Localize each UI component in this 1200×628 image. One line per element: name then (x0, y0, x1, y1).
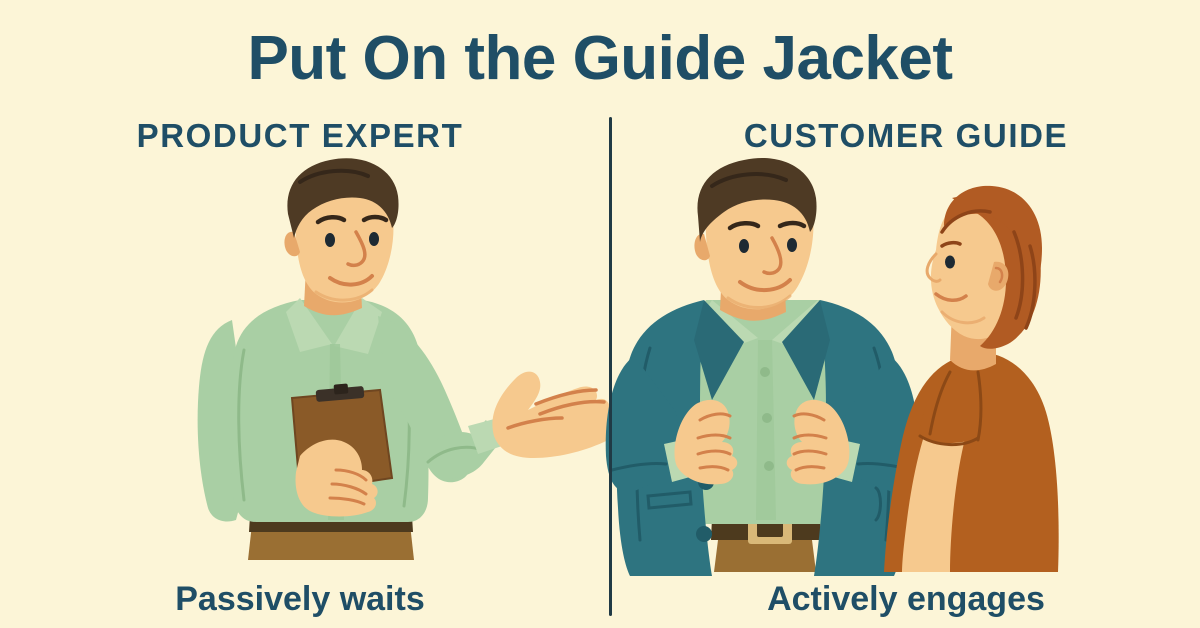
clipboard (292, 383, 392, 492)
left-hand-grasp (675, 400, 738, 485)
page-title: Put On the Guide Jacket (0, 22, 1200, 96)
figure-man-in-teal-jacket (606, 158, 919, 576)
open-palm-hand (492, 372, 615, 458)
poster-canvas: Put On the Guide Jacket PRODUCT EXPERT C… (0, 0, 1200, 628)
caption-actively-engages: Actively engages (612, 578, 1200, 620)
right-hand-grasp (787, 400, 850, 485)
holding-hand (296, 440, 378, 517)
figure-woman-customer (884, 186, 1059, 572)
column-label-product-expert: PRODUCT EXPERT (0, 116, 600, 156)
figure-man-with-clipboard (198, 158, 615, 560)
column-label-customer-guide: CUSTOMER GUIDE (612, 116, 1200, 156)
caption-passively-waits: Passively waits (0, 578, 600, 620)
vertical-divider (609, 117, 612, 616)
